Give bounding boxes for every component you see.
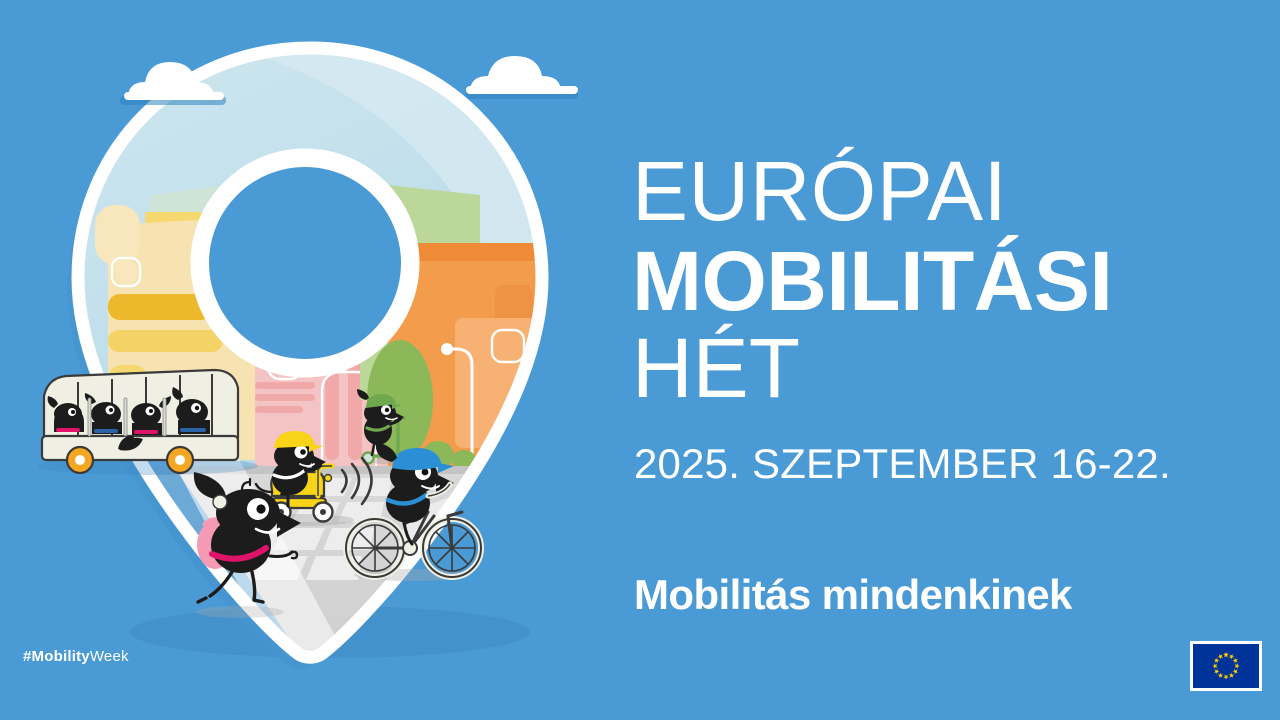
eu-flag-stars bbox=[1212, 652, 1239, 680]
map-pin-illustration bbox=[0, 0, 620, 720]
hashtag-mobilityweek: #MobilityWeek bbox=[23, 648, 129, 665]
poster-canvas: EURÓPAI MOBILITÁSI HÉT 2025. SZEPTEMBER … bbox=[0, 0, 1280, 720]
campaign-text-block: EURÓPAI MOBILITÁSI HÉT 2025. SZEPTEMBER … bbox=[628, 0, 1228, 720]
eu-flag-field bbox=[1193, 644, 1259, 688]
title-line-1: EURÓPAI bbox=[632, 148, 1007, 234]
cloud-right bbox=[466, 56, 578, 99]
campaign-dates: 2025. SZEPTEMBER 16-22. bbox=[634, 440, 1171, 488]
pin-hole bbox=[209, 167, 401, 359]
hashtag-regular-part: Week bbox=[90, 648, 129, 665]
title-line-3: HÉT bbox=[632, 325, 800, 411]
european-union-flag bbox=[1190, 641, 1262, 691]
title-line-2: MOBILITÁSI bbox=[632, 238, 1112, 324]
bus-with-passengers bbox=[38, 370, 258, 475]
hashtag-bold-part: #Mobility bbox=[23, 648, 90, 665]
campaign-tagline: Mobilitás mindenkinek bbox=[634, 570, 1072, 620]
